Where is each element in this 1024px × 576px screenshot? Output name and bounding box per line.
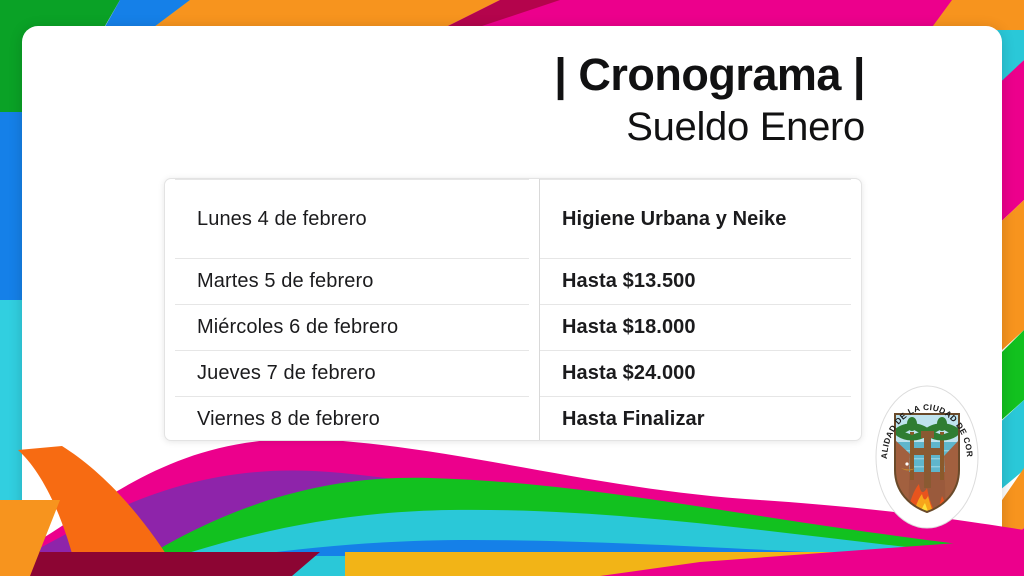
amount-label: Hasta $24.000 [562, 360, 696, 386]
table-row: Hasta $13.500 [540, 258, 851, 304]
day-label: Jueves 7 de febrero [197, 362, 376, 385]
amount-label: Hasta $13.500 [562, 268, 696, 294]
day-label: Miércoles 6 de febrero [197, 316, 398, 339]
amount-label: Hasta $18.000 [562, 314, 696, 340]
day-label: Lunes 4 de febrero [197, 208, 367, 231]
municipal-seal-icon: MUNICIPALIDAD DE LA CIUDAD DE CORRIENTES [874, 384, 980, 530]
day-label: Martes 5 de febrero [197, 270, 373, 293]
amount-label: Hasta Finalizar [562, 406, 705, 432]
table-row: Higiene Urbana y Neike [540, 179, 851, 258]
table-row: Hasta $24.000 [540, 350, 851, 396]
seal-cross-vertical [924, 436, 931, 488]
schedule-table: Lunes 4 de febrero Martes 5 de febrero M… [164, 178, 862, 441]
table-row: Miércoles 6 de febrero [175, 304, 529, 350]
bg-shape-crimson-bottom [0, 548, 330, 576]
day-label: Viernes 8 de febrero [197, 408, 380, 431]
page-title: | Cronograma | [554, 52, 865, 97]
table-row: Hasta Finalizar [540, 396, 851, 442]
schedule-column-days: Lunes 4 de febrero Martes 5 de febrero M… [165, 179, 539, 440]
schedule-column-amounts: Higiene Urbana y Neike Hasta $13.500 Has… [539, 179, 861, 440]
table-row: Hasta $18.000 [540, 304, 851, 350]
page-subtitle: Sueldo Enero [554, 107, 865, 147]
page-heading: | Cronograma | Sueldo Enero [554, 52, 865, 147]
seal-cross-horizontal [914, 448, 941, 455]
table-row: Viernes 8 de febrero [175, 396, 529, 442]
table-row: Martes 5 de febrero [175, 258, 529, 304]
table-row: Jueves 7 de febrero [175, 350, 529, 396]
amount-label: Higiene Urbana y Neike [562, 206, 787, 232]
table-row: Lunes 4 de febrero [175, 179, 529, 258]
